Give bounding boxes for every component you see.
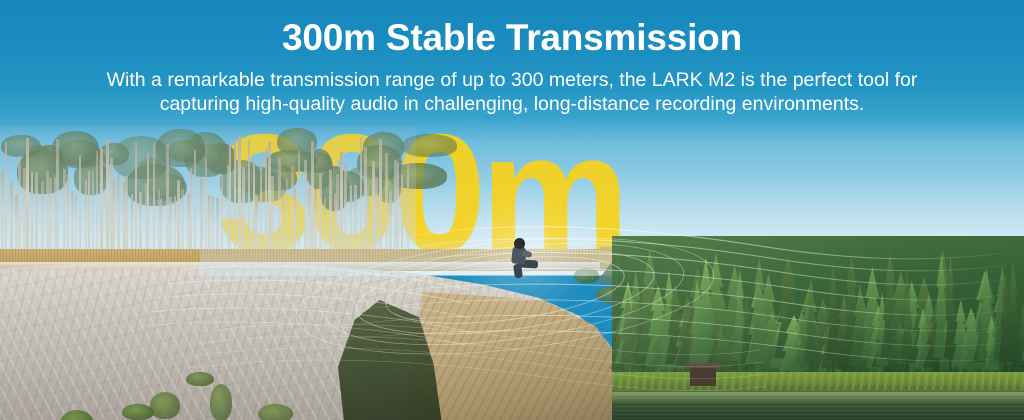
page-title: 300m Stable Transmission — [0, 16, 1024, 60]
lakeside-undergrowth — [612, 372, 1024, 392]
promo-banner: 300m — [0, 0, 1024, 420]
cliff-shrub — [258, 404, 293, 420]
subtitle-line-2: capturing high-quality audio in challeng… — [0, 92, 1024, 117]
person-head — [514, 238, 525, 249]
right-conifer-forest — [612, 236, 1024, 384]
cliff-shrub — [210, 384, 232, 420]
pine-forest-haze — [0, 126, 416, 258]
cliff-shrub — [150, 392, 180, 419]
left-pine-forest — [0, 126, 416, 258]
cliff-shrub — [186, 372, 214, 386]
cliff-shrub — [122, 404, 154, 420]
subtitle-line-1: With a remarkable transmission range of … — [0, 68, 1024, 93]
cliff-sunlit-rock-texture — [404, 292, 644, 420]
lake-reflection-highlight — [612, 392, 1024, 402]
cliff-shrub — [574, 268, 599, 283]
lakeside-boathouse — [690, 368, 716, 386]
person-sitting-on-cliff — [500, 238, 540, 280]
